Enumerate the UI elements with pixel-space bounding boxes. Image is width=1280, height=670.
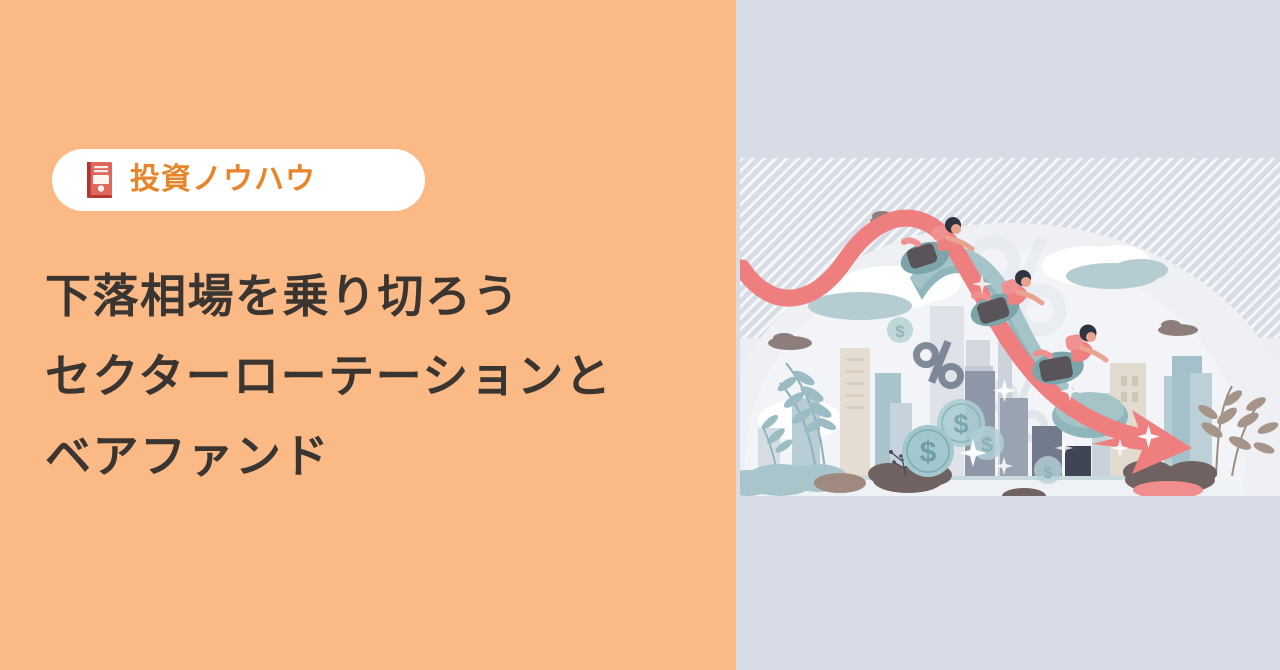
page-title: 下落相場を乗り切ろう セクターローテーションと ベアファンド <box>45 256 705 496</box>
book-icon <box>84 161 114 199</box>
category-badge-label: 投資ノウハウ <box>130 165 316 195</box>
svg-text:$: $ <box>920 436 937 469</box>
headline-line-2: セクターローテーションと <box>45 336 705 416</box>
illustration-artwork: $ $ $ $ $ <box>740 158 1280 496</box>
headline-line-3: ベアファンド <box>45 416 705 496</box>
svg-text:$: $ <box>1043 463 1053 482</box>
hero-left-panel: 投資ノウハウ 下落相場を乗り切ろう セクターローテーションと ベアファンド <box>0 0 736 670</box>
category-badge[interactable]: 投資ノウハウ <box>52 149 425 211</box>
headline-line-1: 下落相場を乗り切ろう <box>45 256 705 336</box>
svg-text:$: $ <box>953 409 968 439</box>
svg-text:$: $ <box>895 322 905 341</box>
illustration-declining-market: $ $ $ $ $ <box>740 158 1280 496</box>
